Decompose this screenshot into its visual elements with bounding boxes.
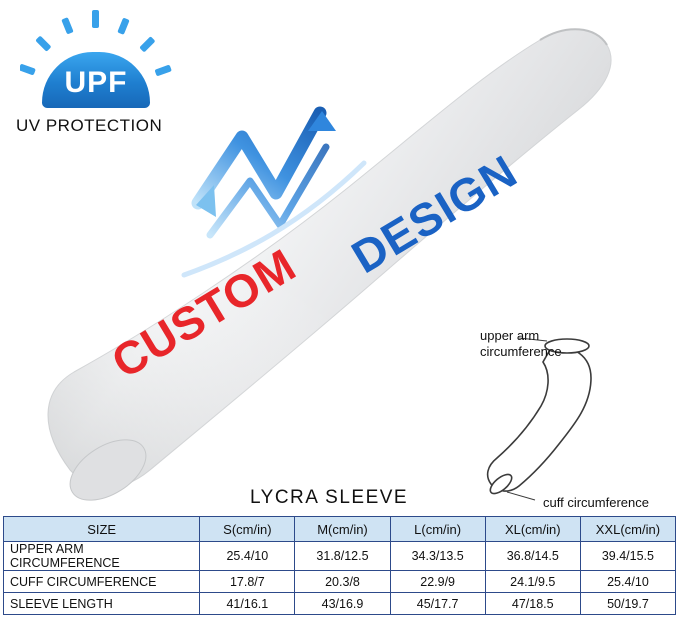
header-l: L(cm/in): [390, 517, 485, 542]
cell-upper-arm-m: 31.8/12.5: [295, 542, 390, 571]
breathable-airflow-arrows-icon: [180, 85, 410, 295]
header-s: S(cm/in): [200, 517, 295, 542]
measurement-diagram: upper arm circumference cuff circumferen…: [455, 320, 679, 515]
row-label-cuff: CUFF CIRCUMFERENCE: [4, 571, 200, 593]
header-xl: XL(cm/in): [485, 517, 580, 542]
upper-arm-label-line1: upper arm: [480, 328, 562, 344]
cell-length-xl: 47/18.5: [485, 593, 580, 615]
cell-cuff-s: 17.8/7: [200, 571, 295, 593]
row-label-upper-arm: UPPER ARM CIRCUMFERENCE: [4, 542, 200, 571]
cell-upper-arm-l: 34.3/13.5: [390, 542, 485, 571]
table-row: CUFF CIRCUMFERENCE 17.8/7 20.3/8 22.9/9 …: [4, 571, 676, 593]
cell-length-s: 41/16.1: [200, 593, 295, 615]
row-label-length: SLEEVE LENGTH: [4, 593, 200, 615]
upper-arm-label-line2: circumference: [480, 344, 562, 360]
header-size: SIZE: [4, 517, 200, 542]
header-m: M(cm/in): [295, 517, 390, 542]
table-header-row: SIZE S(cm/in) M(cm/in) L(cm/in) XL(cm/in…: [4, 517, 676, 542]
upf-badge: UPF UV PROTECTION: [8, 10, 188, 130]
size-chart-table: SIZE S(cm/in) M(cm/in) L(cm/in) XL(cm/in…: [3, 516, 676, 615]
uv-protection-label: UV PROTECTION: [16, 116, 162, 136]
cell-upper-arm-xl: 36.8/14.5: [485, 542, 580, 571]
cell-cuff-m: 20.3/8: [295, 571, 390, 593]
header-xxl: XXL(cm/in): [580, 517, 675, 542]
cell-length-m: 43/16.9: [295, 593, 390, 615]
cuff-circumference-label: cuff circumference: [543, 495, 649, 511]
cell-length-l: 45/17.7: [390, 593, 485, 615]
table-row: UPPER ARM CIRCUMFERENCE 25.4/10 31.8/12.…: [4, 542, 676, 571]
cell-cuff-l: 22.9/9: [390, 571, 485, 593]
upper-arm-circumference-label: upper arm circumference: [480, 328, 562, 361]
upf-text: UPF: [65, 62, 128, 98]
cell-cuff-xl: 24.1/9.5: [485, 571, 580, 593]
product-caption: LYCRA SLEEVE: [250, 487, 408, 509]
cell-upper-arm-s: 25.4/10: [200, 542, 295, 571]
cell-cuff-xxl: 25.4/10: [580, 571, 675, 593]
cell-upper-arm-xxl: 39.4/15.5: [580, 542, 675, 571]
cell-length-xxl: 50/19.7: [580, 593, 675, 615]
table-row: SLEEVE LENGTH 41/16.1 43/16.9 45/17.7 47…: [4, 593, 676, 615]
